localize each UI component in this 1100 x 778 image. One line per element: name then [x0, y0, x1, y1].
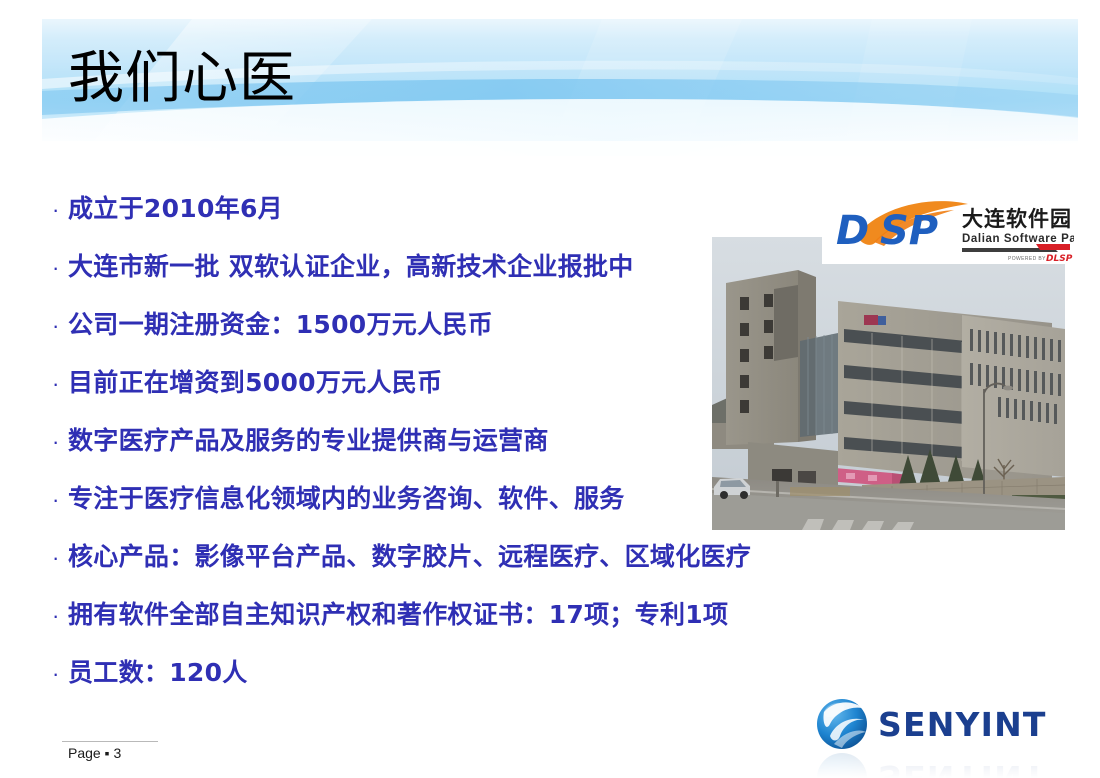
page-number: Page ▪ 3 [68, 745, 121, 761]
list-item: · 数字医疗产品及服务的专业提供商与运营商 [52, 428, 792, 486]
list-item-label: 目前正在增资到5000万元人民币 [68, 370, 442, 395]
senyint-globe-icon [817, 699, 867, 749]
list-item-label: 拥有软件全部自主知识产权和著作权证书：17项；专利1项 [68, 602, 728, 627]
list-item-label: 成立于2010年6月 [68, 196, 283, 221]
list-item: · 核心产品：影像平台产品、数字胶片、远程医疗、区域化医疗 [52, 544, 792, 602]
bullet-marker-icon: · [52, 431, 68, 453]
dlsp-letter-d: D [836, 208, 869, 254]
list-item-label: 专注于医疗信息化领域内的业务咨询、软件、服务 [68, 486, 625, 511]
page-number-label: Page [68, 745, 101, 761]
bullet-marker-icon: · [52, 547, 68, 569]
bullet-marker-icon: · [52, 663, 68, 685]
list-item: · 员工数：120人 [52, 660, 792, 718]
senyint-wordmark: SENYINT [878, 705, 1047, 744]
bullet-marker-icon: · [52, 257, 68, 279]
bullet-marker-icon: · [52, 199, 68, 221]
bullet-marker-icon: · [52, 605, 68, 627]
bullet-marker-icon: · [52, 489, 68, 511]
page-title: 我们心医 [68, 50, 296, 109]
slide-canvas: 我们心医 · 成立于2010年6月 · 大连市新一批 双软认证企业，高新技术企业… [0, 0, 1100, 778]
dlsp-powered-by-brand: DLSP [1046, 254, 1073, 264]
dlsp-logo: D SP 大连软件园 Dalian Software Park POWERED … [822, 198, 1074, 264]
dlsp-chinese-name: 大连软件园 [962, 207, 1072, 231]
page-number-value: 3 [113, 745, 121, 761]
list-item-label: 数字医疗产品及服务的专业提供商与运营商 [68, 428, 549, 453]
dlsp-english-name: Dalian Software Park [962, 233, 1074, 245]
senyint-logo-graphic: SENYINT SENYINT [810, 692, 1060, 778]
page-number-separator-icon: ▪ [105, 745, 110, 761]
dlsp-letter-sp: SP [880, 208, 938, 254]
list-item-label: 员工数：120人 [68, 660, 248, 685]
bullet-list: · 成立于2010年6月 · 大连市新一批 双软认证企业，高新技术企业报批中 ·… [52, 196, 792, 718]
senyint-logo: SENYINT SENYINT [810, 692, 1060, 778]
list-item: · 大连市新一批 双软认证企业，高新技术企业报批中 [52, 254, 792, 312]
list-item-label: 核心产品：影像平台产品、数字胶片、远程医疗、区域化医疗 [68, 544, 751, 569]
footer-divider [62, 741, 158, 742]
list-item: · 成立于2010年6月 [52, 196, 792, 254]
list-item-label: 公司一期注册资金：1500万元人民币 [68, 312, 493, 337]
list-item: · 公司一期注册资金：1500万元人民币 [52, 312, 792, 370]
dlsp-logo-graphic: D SP 大连软件园 Dalian Software Park POWERED … [822, 198, 1074, 264]
list-item: · 目前正在增资到5000万元人民币 [52, 370, 792, 428]
dlsp-powered-by: POWERED BY [1008, 256, 1046, 262]
bullet-marker-icon: · [52, 315, 68, 337]
list-item: · 专注于医疗信息化领域内的业务咨询、软件、服务 [52, 486, 792, 544]
list-item: · 拥有软件全部自主知识产权和著作权证书：17项；专利1项 [52, 602, 792, 660]
list-item-label: 大连市新一批 双软认证企业，高新技术企业报批中 [68, 254, 634, 279]
bullet-marker-icon: · [52, 373, 68, 395]
